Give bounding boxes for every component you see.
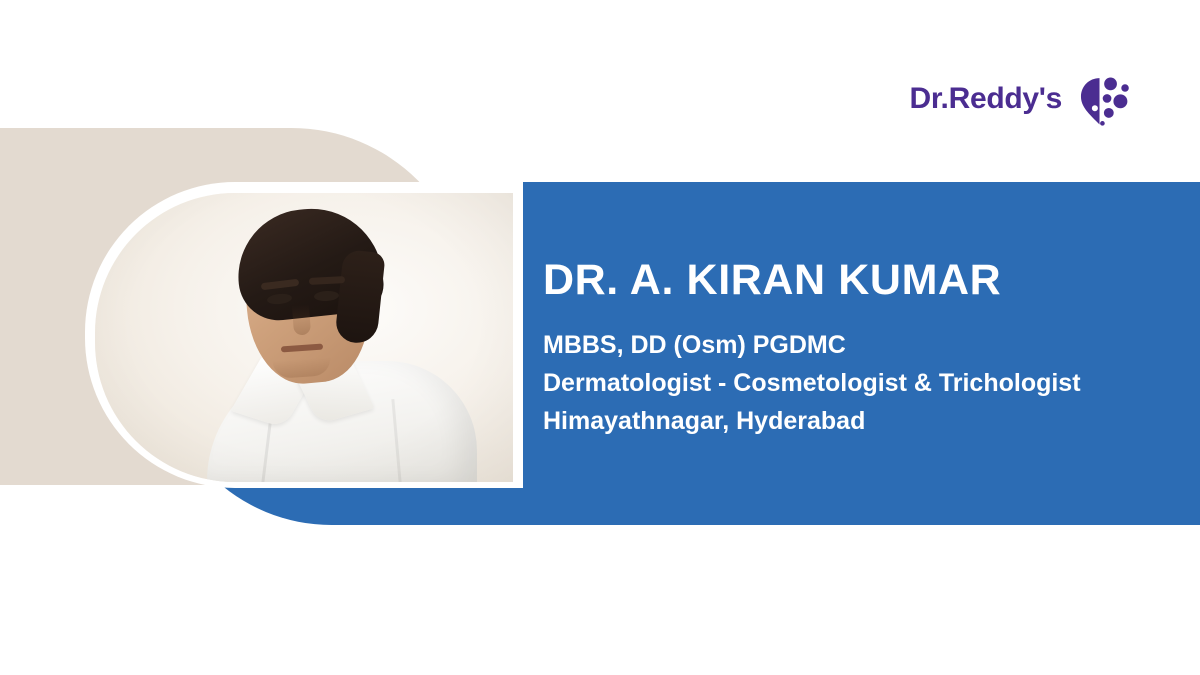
doctor-specialty: Dermatologist - Cosmetologist & Tricholo… [543,364,1163,402]
profile-card-canvas: DR. A. KIRAN KUMAR MBBS, DD (Osm) PGDMC … [0,0,1200,675]
brand-wordmark: Dr.Reddy's [909,84,1062,114]
doctor-info-block: DR. A. KIRAN KUMAR MBBS, DD (Osm) PGDMC … [543,258,1163,440]
portrait-vignette [95,193,513,482]
doctor-name: DR. A. KIRAN KUMAR [543,258,1163,304]
doctor-qualifications: MBBS, DD (Osm) PGDMC [543,326,1163,364]
portrait-illustration [95,193,513,482]
reddys-heart-dots-logo-icon [1074,70,1132,128]
doctor-portrait-photo [95,193,513,482]
brand-logo: Dr.Reddy's [909,70,1132,128]
doctor-location: Himayathnagar, Hyderabad [543,402,1163,440]
